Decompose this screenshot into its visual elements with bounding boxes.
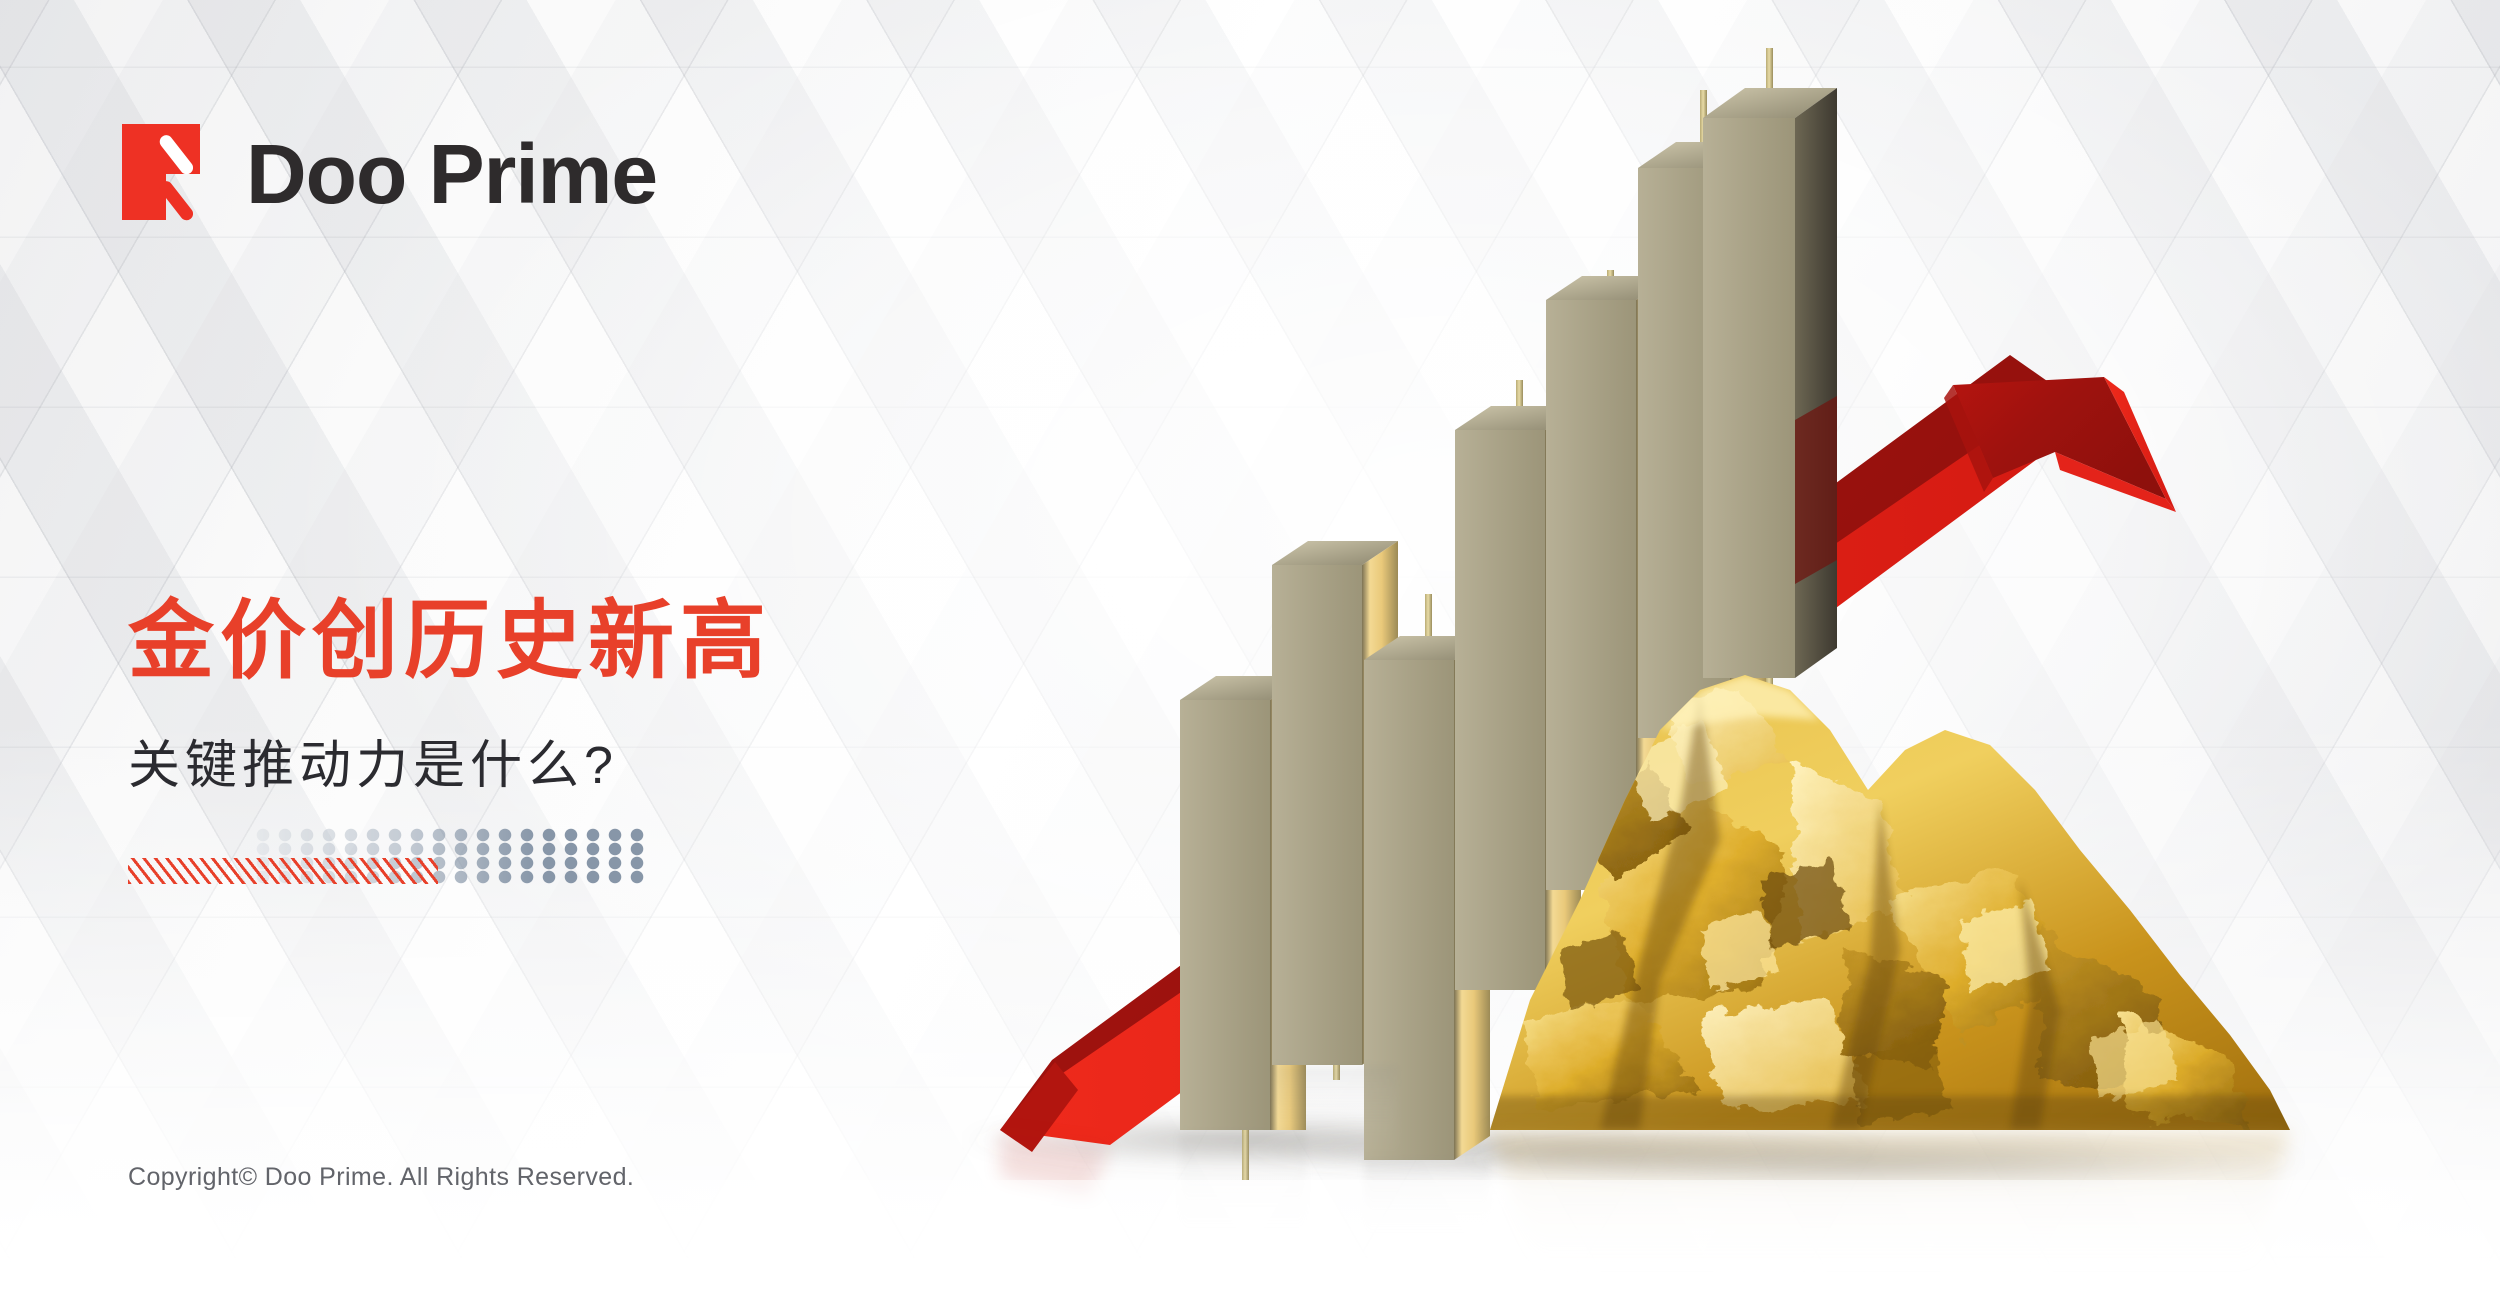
brand-logo[interactable]: Doo Prime	[120, 122, 657, 226]
brand-wordmark: Doo Prime	[246, 132, 657, 216]
page-subtitle: 关键推动力是什么?	[128, 740, 618, 792]
page-title: 金价创历史新高	[128, 598, 772, 684]
hatch-stripe-decoration	[128, 858, 438, 884]
copyright-text: Copyright© Doo Prime. All Rights Reserve…	[128, 1163, 634, 1192]
banner: Doo Prime 金价创历史新高 关键推动力是什么? Copyright© D…	[0, 0, 2500, 1308]
doo-prime-logo-mark-icon	[120, 122, 216, 226]
decorative-divider	[128, 828, 648, 890]
